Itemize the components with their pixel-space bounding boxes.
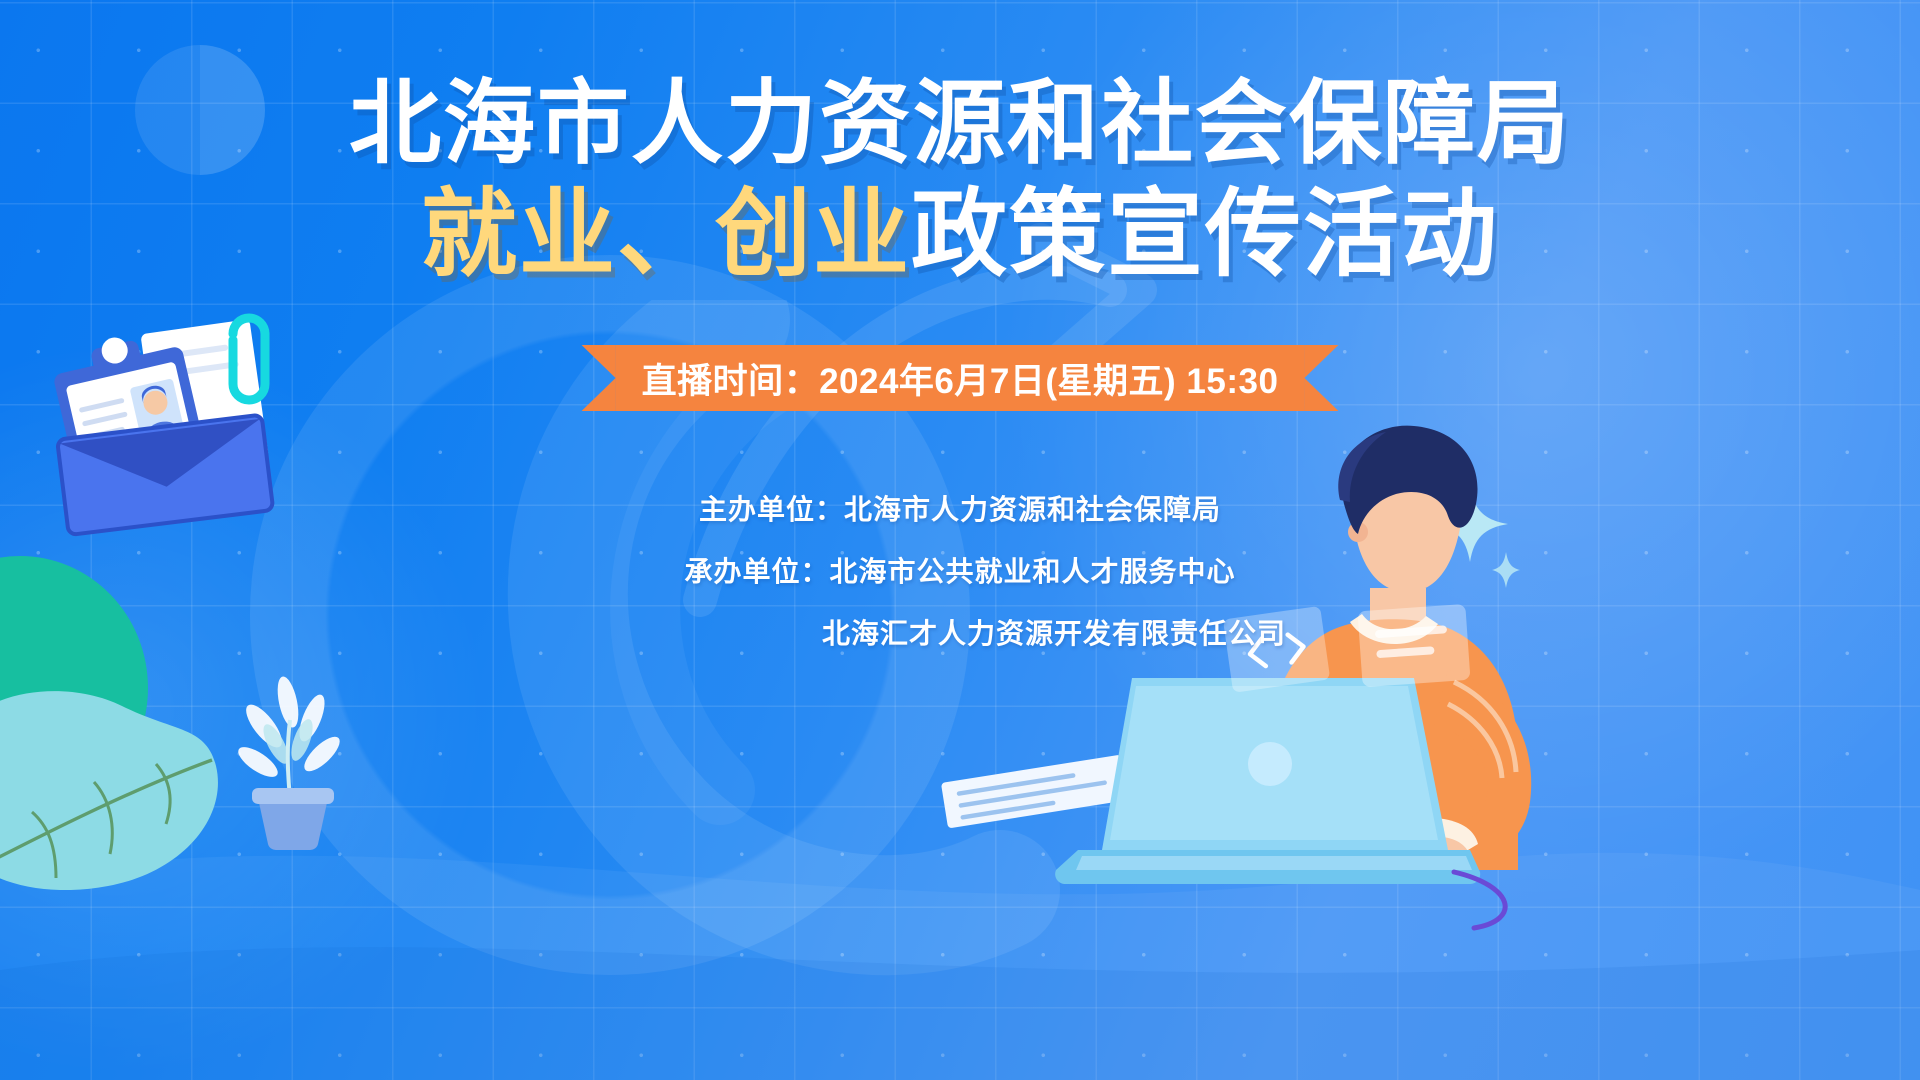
bottom-wave-decoration — [0, 760, 1920, 1080]
ribbon-body: 直播时间：2024年6月7日(星期五) 15:30 — [616, 345, 1305, 411]
resume-clipboard-envelope-illustration — [58, 312, 288, 532]
title-highlight-text: 就业、创业 — [421, 181, 911, 288]
paper-sheet-illustration — [938, 760, 1138, 830]
organizer-line-company: 北海汇才人力资源开发有限责任公司 — [634, 612, 1286, 652]
grid-overlay — [0, 0, 1920, 1080]
headline-block: 北海市人力资源和社会保障局 就业、创业政策宣传活动 — [0, 78, 1920, 284]
ribbon-right-chevron-icon — [1304, 345, 1338, 411]
arrow-swoosh-decoration — [640, 170, 1200, 730]
page-title-line2: 就业、创业政策宣传活动 — [0, 186, 1920, 284]
plant-leaves-illustration — [0, 528, 240, 848]
page-title-line1: 北海市人力资源和社会保障局 — [0, 78, 1920, 172]
envelope-illustration — [62, 408, 282, 538]
teal-leaf-illustration — [0, 640, 280, 900]
illustration-layer — [0, 0, 1920, 1080]
title-rest-text: 政策宣传活动 — [911, 181, 1499, 288]
banner-canvas: 北海市人力资源和社会保障局 就业、创业政策宣传活动 直播时间：2024年6月7日… — [0, 0, 1920, 1080]
grid-dot-overlay — [0, 0, 1920, 1080]
pie-chart-decoration — [135, 45, 265, 175]
glow-right — [980, 0, 1920, 930]
organizer-line-host: 主办单位：北海市人力资源和社会保障局 — [699, 488, 1221, 528]
organizer-block: 主办单位：北海市人力资源和社会保障局 承办单位：北海市公共就业和人才服务中心 北… — [0, 488, 1920, 674]
potted-plant-illustration — [228, 660, 358, 850]
glow-left — [0, 330, 500, 1080]
ribbon-text: 直播时间：2024年6月7日(星期五) 15:30 — [642, 353, 1279, 404]
sparkle-illustration — [1430, 480, 1520, 590]
ribbon-left-chevron-icon — [582, 345, 616, 411]
live-time-ribbon: 直播时间：2024年6月7日(星期五) 15:30 — [582, 345, 1339, 411]
organizer-line-coorganizer: 承办单位：北海市公共就业和人才服务中心 — [684, 550, 1235, 590]
person-with-laptop-illustration — [1118, 420, 1678, 920]
